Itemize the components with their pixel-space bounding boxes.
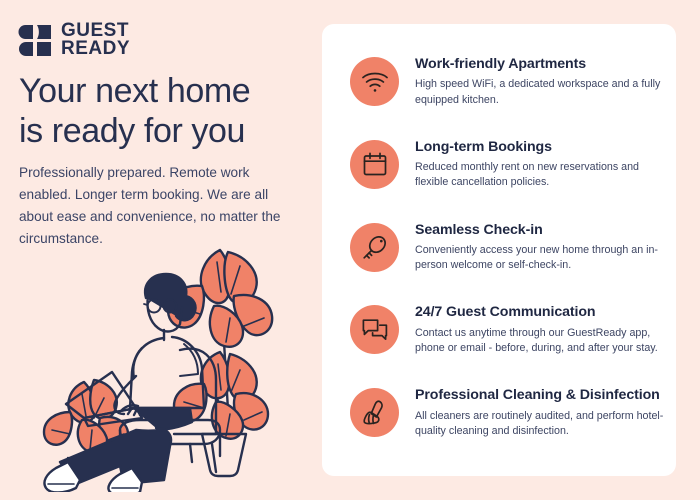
list-item[interactable]: Work-friendly Apartments High speed WiFi… xyxy=(350,54,666,108)
key-icon xyxy=(350,223,399,272)
brand-wordmark: GUEST READY xyxy=(61,22,130,59)
headline-line-2: is ready for you xyxy=(19,112,245,150)
promo-page: GUEST READY Your next home is ready for … xyxy=(0,0,700,500)
page-title: Your next home is ready for you xyxy=(19,72,309,152)
feature-text: Seamless Check-in Conveniently access yo… xyxy=(415,220,665,274)
list-item[interactable]: Seamless Check-in Conveniently access yo… xyxy=(350,220,666,274)
feature-title: Long-term Bookings xyxy=(415,138,665,156)
broom-icon xyxy=(350,388,399,437)
feature-description: High speed WiFi, a dedicated workspace a… xyxy=(415,77,665,107)
feature-title: Professional Cleaning & Disinfection xyxy=(415,386,665,404)
person-with-laptop xyxy=(44,274,204,492)
feature-title: Seamless Check-in xyxy=(415,221,665,239)
list-item[interactable]: Long-term Bookings Reduced monthly rent … xyxy=(350,137,666,191)
feature-text: Professional Cleaning & Disinfection All… xyxy=(415,385,665,439)
list-item[interactable]: 24/7 Guest Communication Contact us anyt… xyxy=(350,302,666,356)
wifi-icon xyxy=(350,57,399,106)
headline-line-1: Your next home xyxy=(19,72,250,110)
feature-title: 24/7 Guest Communication xyxy=(415,303,665,321)
hero-column: GUEST READY Your next home is ready for … xyxy=(0,0,322,500)
features-card: Work-friendly Apartments High speed WiFi… xyxy=(322,24,676,476)
feature-description: All cleaners are routinely audited, and … xyxy=(415,409,665,439)
brand-logo[interactable]: GUEST READY xyxy=(18,22,130,59)
hero-illustration xyxy=(24,222,314,492)
feature-text: 24/7 Guest Communication Contact us anyt… xyxy=(415,302,665,356)
features-list: Work-friendly Apartments High speed WiFi… xyxy=(350,54,666,439)
feature-title: Work-friendly Apartments xyxy=(415,55,665,73)
guestready-logo-mark-icon xyxy=(18,24,52,57)
feature-description: Reduced monthly rent on new reservations… xyxy=(415,160,665,190)
feature-text: Long-term Bookings Reduced monthly rent … xyxy=(415,137,665,191)
feature-description: Contact us anytime through our GuestRead… xyxy=(415,326,665,356)
list-item[interactable]: Professional Cleaning & Disinfection All… xyxy=(350,385,666,439)
brand-name-line2: READY xyxy=(61,40,130,58)
calendar-icon xyxy=(350,140,399,189)
feature-text: Work-friendly Apartments High speed WiFi… xyxy=(415,54,665,108)
feature-description: Conveniently access your new home throug… xyxy=(415,243,665,273)
chat-bubbles-icon xyxy=(350,305,399,354)
